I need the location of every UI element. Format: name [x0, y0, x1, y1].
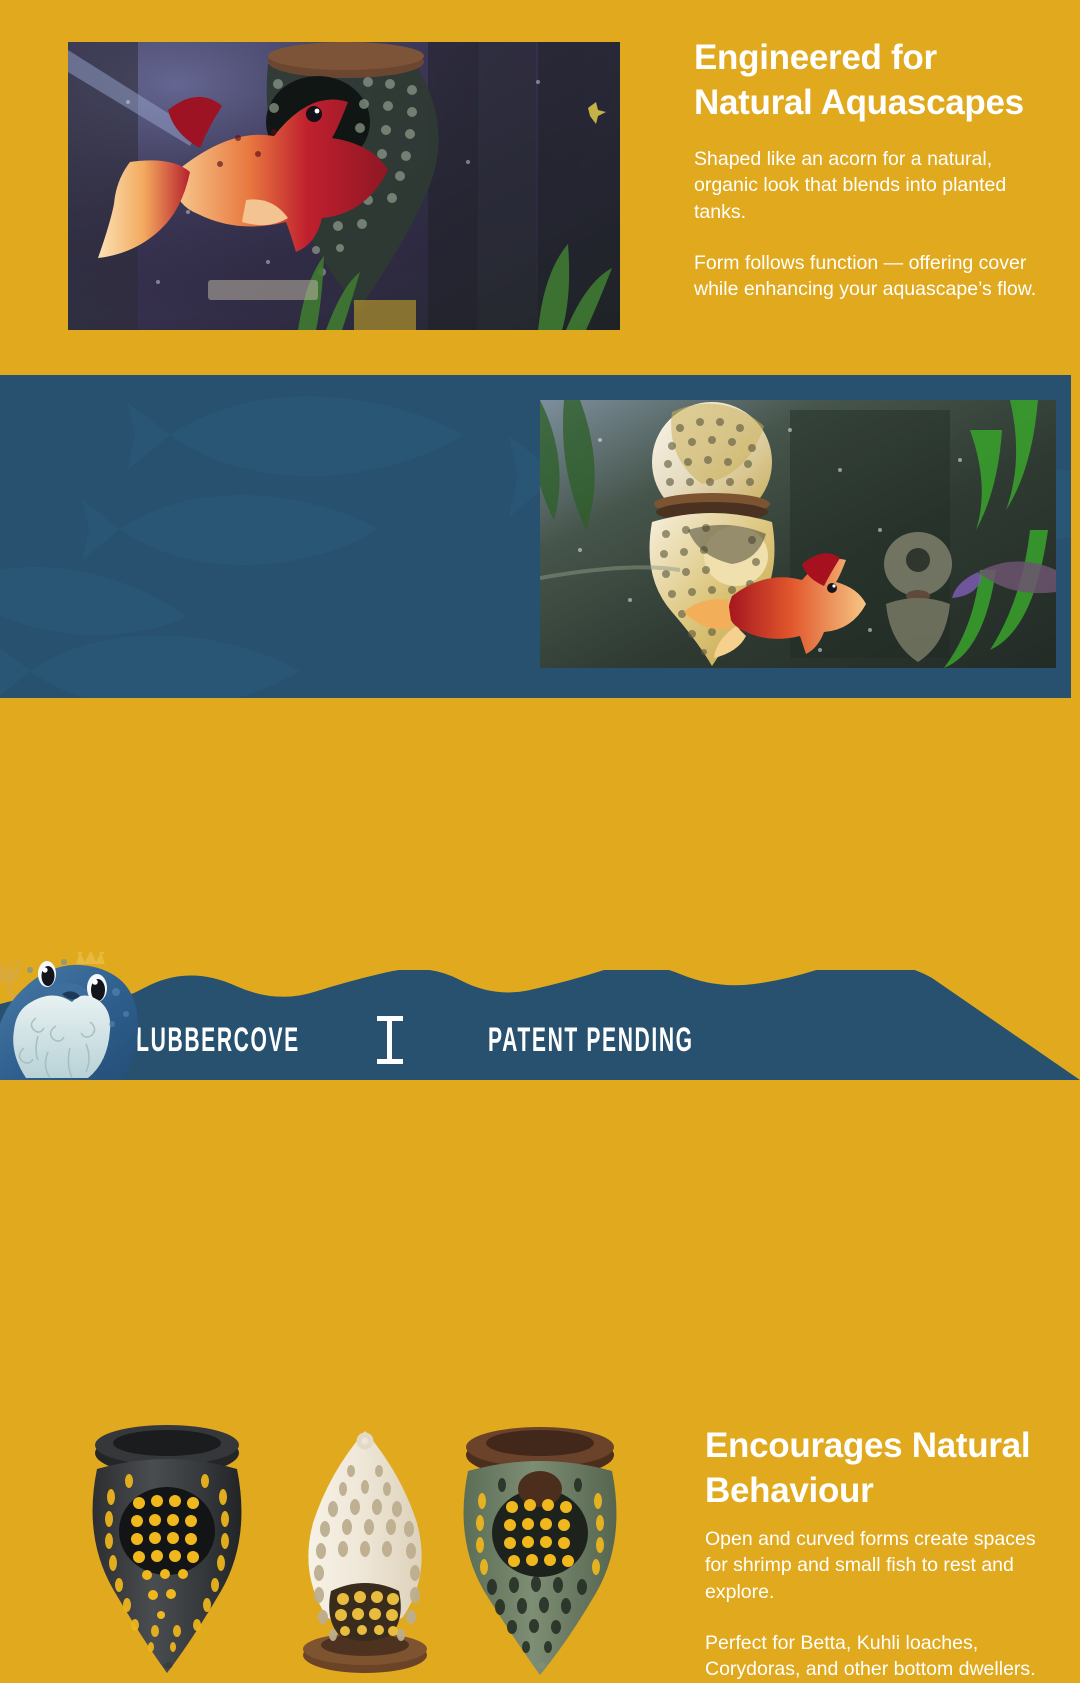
heading-line-1: Engineered for	[694, 38, 937, 77]
body-paragraph: Shaped like an acorn for a natural, orga…	[694, 146, 1044, 226]
white-acorn-ornament-with-betta-photo	[540, 400, 1056, 668]
heading-line-2: Behaviour	[705, 1471, 873, 1510]
product-green-acorn-cave	[440, 1425, 640, 1675]
panel-engineered-body: Shaped like an acorn for a natural, orga…	[694, 146, 1044, 304]
panel-behaviour-heading: Encourages Natural Behaviour	[705, 1424, 1045, 1514]
panel-behaviour-body: Open and curved forms create spaces for …	[705, 1526, 1045, 1683]
product-lineup	[55, 1413, 675, 1678]
poseidon-seal-mascot-icon	[0, 952, 162, 1080]
infographic-page: Engineered for Natural Aquascapes Shaped…	[0, 0, 1080, 1080]
panel-engineered: Engineered for Natural Aquascapes Shaped…	[0, 0, 1080, 375]
heading-line-2: Natural Aquascapes	[694, 81, 1044, 126]
footer-wave-background	[0, 970, 1080, 1080]
product-white-acorn-cave	[265, 1423, 465, 1678]
body-paragraph: Open and curved forms create spaces for …	[705, 1526, 1045, 1606]
panel-engineered-text: Engineered for Natural Aquascapes Shaped…	[694, 36, 1044, 303]
betta-with-dark-acorn-cave-photo	[68, 42, 620, 330]
body-paragraph: Perfect for Betta, Kuhli loaches, Corydo…	[705, 1630, 1045, 1683]
heading-line-1: Encourages Natural	[705, 1426, 1030, 1465]
right-gold-edge-strip	[1071, 375, 1080, 698]
panel-behaviour-text: Encourages Natural Behaviour Open and cu…	[705, 1424, 1045, 1683]
panel-engineered-heading: Engineered for Natural Aquascapes	[694, 36, 1044, 126]
product-black-acorn-cave	[67, 1425, 267, 1675]
body-paragraph: Form follows function — offering cover w…	[694, 250, 1044, 303]
